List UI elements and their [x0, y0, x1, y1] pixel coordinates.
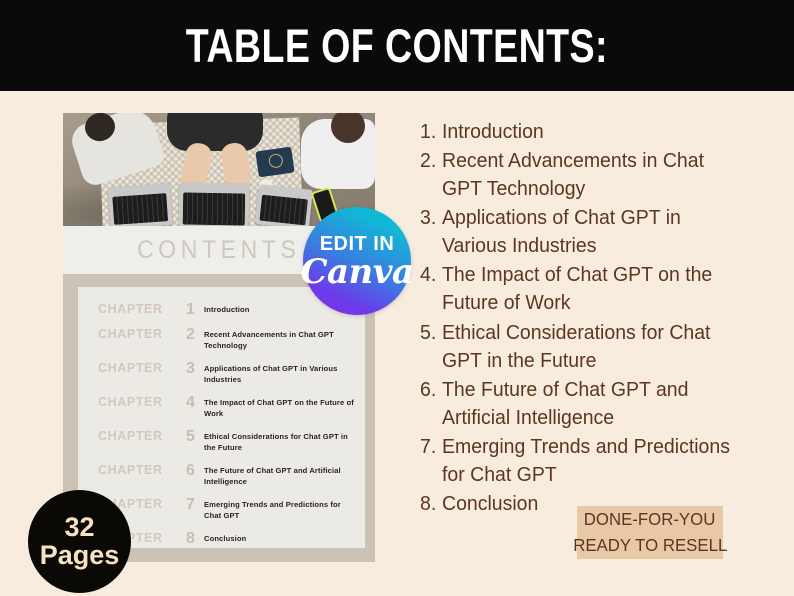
table-of-contents-list: 1. Introduction 2. Recent Advancements i…: [420, 118, 750, 519]
page-count-badge: 32 Pages: [28, 490, 131, 593]
preview-chapter-title: Emerging Trends and Predictions for Chat…: [204, 498, 355, 521]
toc-item-label: The Impact of Chat GPT on the Future of …: [442, 261, 735, 317]
photo-notebook-emblem: [268, 153, 284, 169]
preview-chapter-number: 7: [186, 498, 204, 512]
toc-item: 3. Applications of Chat GPT in Various I…: [420, 204, 750, 260]
preview-chapter-label: CHAPTER: [98, 362, 186, 375]
photo-person-center: [167, 113, 263, 151]
preview-chapter-row: CHAPTER 8 Conclusion: [98, 532, 355, 546]
preview-chapter-row: CHAPTER 2 Recent Advancements in Chat GP…: [98, 328, 355, 351]
preview-chapter-label: CHAPTER: [98, 396, 186, 409]
preview-contents-heading: CONTENTS: [137, 236, 300, 265]
resell-badge-line1: DONE-FOR-YOU: [584, 507, 716, 532]
preview-chapter-row: CHAPTER 3 Applications of Chat GPT in Va…: [98, 362, 355, 385]
preview-chapter-label: CHAPTER: [98, 328, 186, 341]
preview-chapter-number: 3: [186, 362, 204, 376]
resell-badge-line2: READY TO RESELL: [573, 533, 727, 558]
toc-item: 4. The Impact of Chat GPT on the Future …: [420, 261, 750, 317]
preview-chapter-title: Recent Advancements in Chat GPT Technolo…: [204, 328, 355, 351]
preview-chapter-row: CHAPTER 5 Ethical Considerations for Cha…: [98, 430, 355, 453]
toc-item-label: Emerging Trends and Predictions for Chat…: [442, 433, 735, 489]
preview-chapter-row: CHAPTER 6 The Future of Chat GPT and Art…: [98, 464, 355, 487]
page-title: TABLE OF CONTENTS:: [186, 22, 608, 69]
toc-item: 6. The Future of Chat GPT and Artificial…: [420, 376, 750, 432]
toc-item: 5. Ethical Considerations for Chat GPT i…: [420, 319, 750, 375]
toc-item: 7. Emerging Trends and Predictions for C…: [420, 433, 750, 489]
toc-item-number: 3.: [420, 204, 441, 232]
resell-badge: DONE-FOR-YOU READY TO RESELL: [577, 506, 723, 559]
photo-notebook: [255, 147, 294, 178]
toc-item-label: Applications of Chat GPT in Various Indu…: [442, 204, 735, 260]
preview-chapter-number: 1: [186, 303, 204, 317]
preview-photo: [63, 113, 375, 226]
toc-item: 2. Recent Advancements in Chat GPT Techn…: [420, 147, 750, 203]
preview-chapter-label: CHAPTER: [98, 430, 186, 443]
preview-chapter-row: CHAPTER 4 The Impact of Chat GPT on the …: [98, 396, 355, 419]
preview-chapter-number: 8: [186, 532, 204, 546]
toc-item-label: The Future of Chat GPT and Artificial In…: [442, 376, 735, 432]
canva-badge-logo-text: Canva: [300, 255, 413, 289]
toc-item-number: 5.: [420, 319, 441, 347]
document-preview[interactable]: CONTENTS CHAPTER 1 Introduction CHAPTER …: [63, 113, 375, 562]
preview-chapter-title: The Impact of Chat GPT on the Future of …: [204, 396, 355, 419]
header-band: TABLE OF CONTENTS:: [0, 0, 794, 91]
photo-laptop-keyboard: [183, 192, 246, 225]
toc-item-number: 7.: [420, 433, 441, 461]
preview-chapter-number: 4: [186, 396, 204, 410]
toc-item-number: 2.: [420, 147, 441, 175]
preview-chapter-label: CHAPTER: [98, 464, 186, 477]
photo-laptop-keyboard: [259, 195, 307, 226]
photo-laptop-left: [108, 183, 173, 226]
canva-badge-line1: EDIT IN: [320, 234, 395, 254]
photo-laptop-right: [255, 184, 313, 226]
edit-in-canva-badge[interactable]: EDIT IN Canva: [303, 207, 411, 315]
toc-item-number: 4.: [420, 261, 441, 289]
toc-item-number: 1.: [420, 118, 441, 146]
preview-chapter-title: Ethical Considerations for Chat GPT in t…: [204, 430, 355, 453]
toc-item-label: Introduction: [442, 118, 735, 146]
preview-chapter-row: CHAPTER 1 Introduction: [98, 303, 355, 317]
preview-chapter-number: 5: [186, 430, 204, 444]
toc-item-label: Recent Advancements in Chat GPT Technolo…: [442, 147, 735, 203]
preview-chapter-title: Conclusion: [204, 532, 355, 544]
photo-laptop-keyboard: [112, 193, 168, 225]
preview-chapter-number: 6: [186, 464, 204, 478]
toc-item-number: 6.: [420, 376, 441, 404]
preview-chapter-number: 2: [186, 328, 204, 342]
preview-chapter-label: CHAPTER: [98, 303, 186, 316]
toc-item: 1. Introduction: [420, 118, 750, 146]
page-count-word: Pages: [40, 542, 120, 570]
preview-chapter-row: CHAPTER 7 Emerging Trends and Prediction…: [98, 498, 355, 521]
preview-chapter-list: CHAPTER 1 Introduction CHAPTER 2 Recent …: [78, 287, 365, 548]
photo-laptop-center: [179, 182, 250, 226]
page-count-number: 32: [64, 514, 94, 542]
toc-item-label: Ethical Considerations for Chat GPT in t…: [442, 319, 735, 375]
toc-item-number: 8.: [420, 490, 441, 518]
preview-chapter-title: Applications of Chat GPT in Various Indu…: [204, 362, 355, 385]
preview-chapter-title: The Future of Chat GPT and Artificial In…: [204, 464, 355, 487]
